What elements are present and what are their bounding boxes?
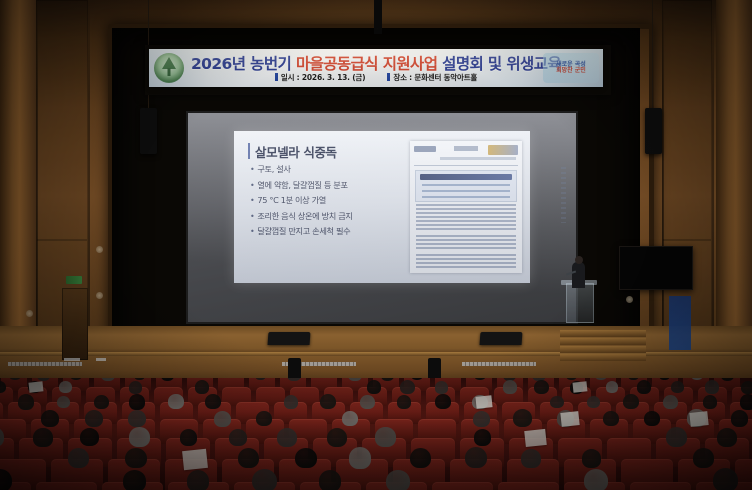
list-item: 구토, 설사 xyxy=(250,163,410,175)
speaker-hanging-wire xyxy=(652,0,653,108)
handout-paper xyxy=(29,381,44,393)
audience-member xyxy=(474,429,491,446)
handout-paper xyxy=(560,411,579,427)
auditorium-seat xyxy=(630,482,691,490)
audience-member xyxy=(229,429,247,446)
list-item: 열에 약함, 달걀껍질 등 분포 xyxy=(250,179,410,191)
banner-title-part-1: 2026년 농번기 xyxy=(191,55,296,73)
wall-panel xyxy=(36,0,88,240)
document-header xyxy=(414,145,518,166)
handout-paper xyxy=(573,381,588,393)
hanging-speaker-left xyxy=(140,108,157,154)
audience-member xyxy=(584,469,608,490)
press-release-thumbnail xyxy=(410,141,522,273)
audience-member xyxy=(400,380,415,395)
audience-member xyxy=(465,447,487,468)
slide-title: 살모넬라 식중독 xyxy=(255,142,337,161)
audience-member xyxy=(342,411,358,426)
audience-member xyxy=(360,395,375,409)
hanging-speaker-right xyxy=(645,108,662,154)
ceiling-speaker-icon xyxy=(374,0,382,34)
lectern xyxy=(566,283,594,323)
audience-member xyxy=(713,468,738,490)
wall-seam xyxy=(712,0,714,380)
air-vent xyxy=(462,362,536,366)
document-paragraph xyxy=(416,254,516,270)
banner-title-part-2: 마을공동급식 지원사업 xyxy=(296,55,437,73)
audience-member xyxy=(521,449,541,468)
audience-member xyxy=(205,394,221,409)
banner-place: 장소 : 문화센터 동악아트홀 xyxy=(393,73,477,82)
audience-member xyxy=(284,395,298,409)
audience-member xyxy=(41,410,59,427)
audience-member xyxy=(397,395,411,409)
banner-title: 2026년 농번기 마을공동급식 지원사업 설명회 및 위생교육 xyxy=(149,52,603,74)
audience-member xyxy=(85,410,103,427)
document-headline-band xyxy=(415,170,517,202)
blue-wall-panel xyxy=(669,296,691,350)
audience-member xyxy=(435,381,448,394)
audience-member xyxy=(33,428,52,447)
auditorium-seat xyxy=(432,482,493,490)
wall-mounted-display xyxy=(619,246,693,290)
audience-member xyxy=(731,410,748,427)
stage-stairs xyxy=(560,326,646,366)
handout-paper xyxy=(182,449,208,470)
slogan-line-2: 희망찬 군민 xyxy=(556,68,586,74)
handout-paper xyxy=(524,429,546,447)
wall-panel xyxy=(662,0,712,240)
audience-member xyxy=(534,380,549,394)
wall-light-icon xyxy=(626,296,633,303)
audience-member xyxy=(252,469,277,490)
slide-bullet-list: 구토, 설사 열에 약함, 달걀껍질 등 분포 75 °C 1분 이상 가열 조… xyxy=(250,163,410,241)
audience-member xyxy=(180,429,197,446)
audience-member xyxy=(587,396,601,409)
wall-plate xyxy=(96,358,106,361)
audience-member xyxy=(125,448,147,469)
list-item: 75 °C 1분 이상 가열 xyxy=(250,194,410,206)
audience-member xyxy=(473,411,490,427)
audience-member xyxy=(705,380,719,394)
wall-light-icon xyxy=(96,246,103,253)
audience-member xyxy=(129,381,142,394)
audience-member xyxy=(349,447,371,469)
side-door xyxy=(62,288,88,360)
audience-member xyxy=(367,380,382,394)
audience-member xyxy=(129,427,150,447)
air-vent xyxy=(8,362,82,366)
banner-date: 일시 : 2026. 3. 13. (금) xyxy=(281,73,366,82)
list-item: 달걀껍질 만지고 손세척 필수 xyxy=(250,225,410,237)
audience-member xyxy=(168,394,184,409)
audience-member xyxy=(256,411,272,426)
audience-member xyxy=(195,380,210,394)
audience-member xyxy=(663,395,678,409)
audience-member xyxy=(94,395,109,409)
audience-member xyxy=(320,394,336,410)
floor-monitor-right xyxy=(480,332,523,345)
audience-member xyxy=(623,394,639,409)
audience-member xyxy=(671,381,684,393)
audience-member xyxy=(637,380,651,394)
audience-member xyxy=(277,428,297,447)
audience-seating xyxy=(0,378,752,490)
audience-member xyxy=(68,448,89,468)
audience-member xyxy=(319,470,342,490)
audience-member xyxy=(327,428,347,447)
audience-member xyxy=(582,449,601,468)
audience-member xyxy=(128,410,146,428)
audience-member xyxy=(503,380,517,393)
presenter-head xyxy=(575,256,583,264)
auditorium-photo: 2026년 농번기 마을공동급식 지원사업 설명회 및 위생교육 일시 : 20… xyxy=(0,0,752,490)
audience-member xyxy=(740,394,752,410)
audience-member xyxy=(214,411,231,427)
audience-member xyxy=(741,381,752,394)
slide-title-accent xyxy=(248,143,250,159)
county-slogan-icon: 새로운 곡성 희망찬 군민 xyxy=(543,53,599,83)
document-paragraph xyxy=(416,235,516,249)
exit-sign-icon xyxy=(66,276,82,284)
audience-member xyxy=(513,409,532,427)
document-paragraph xyxy=(416,204,516,230)
audience-member xyxy=(703,395,717,409)
banner-subtitle: 일시 : 2026. 3. 13. (금)장소 : 문화센터 동악아트홀 xyxy=(149,72,603,83)
handout-paper xyxy=(689,411,708,427)
audience-member xyxy=(123,470,146,490)
audience-member xyxy=(435,394,451,409)
audience-member xyxy=(603,411,619,426)
presenter-body xyxy=(572,262,585,288)
audience-member xyxy=(238,448,259,468)
presentation-slide: 살모넬라 식중독 구토, 설사 열에 약함, 달걀껍질 등 분포 75 °C 1… xyxy=(234,131,530,283)
audience-member xyxy=(717,428,737,447)
audience-member xyxy=(666,427,687,447)
audience-member xyxy=(18,394,34,410)
event-banner: 2026년 농번기 마을공동급식 지원사업 설명회 및 위생교육 일시 : 20… xyxy=(149,49,603,87)
audience-member xyxy=(386,470,409,490)
floor-monitor-left xyxy=(268,332,311,345)
list-item: 조리한 음식 상온에 방치 금지 xyxy=(250,210,410,222)
audience-member xyxy=(187,470,210,490)
screen-side-text xyxy=(561,167,566,223)
wall-seam xyxy=(88,0,90,380)
auditorium-seat xyxy=(498,482,559,490)
audience-member xyxy=(80,428,99,446)
wall-light-icon xyxy=(96,292,103,299)
audience-member xyxy=(550,396,563,409)
audience-member xyxy=(375,427,395,447)
wall-plate xyxy=(64,358,80,361)
audience-member xyxy=(644,411,660,426)
wall-light-icon xyxy=(26,310,33,317)
audience-member xyxy=(59,381,72,393)
audience-member xyxy=(295,448,316,468)
auditorium-seat xyxy=(36,482,97,490)
audience-member xyxy=(606,381,619,393)
audience-member xyxy=(410,448,431,468)
audience-member xyxy=(129,394,145,410)
handout-paper xyxy=(476,395,493,409)
audience-member xyxy=(693,448,714,468)
